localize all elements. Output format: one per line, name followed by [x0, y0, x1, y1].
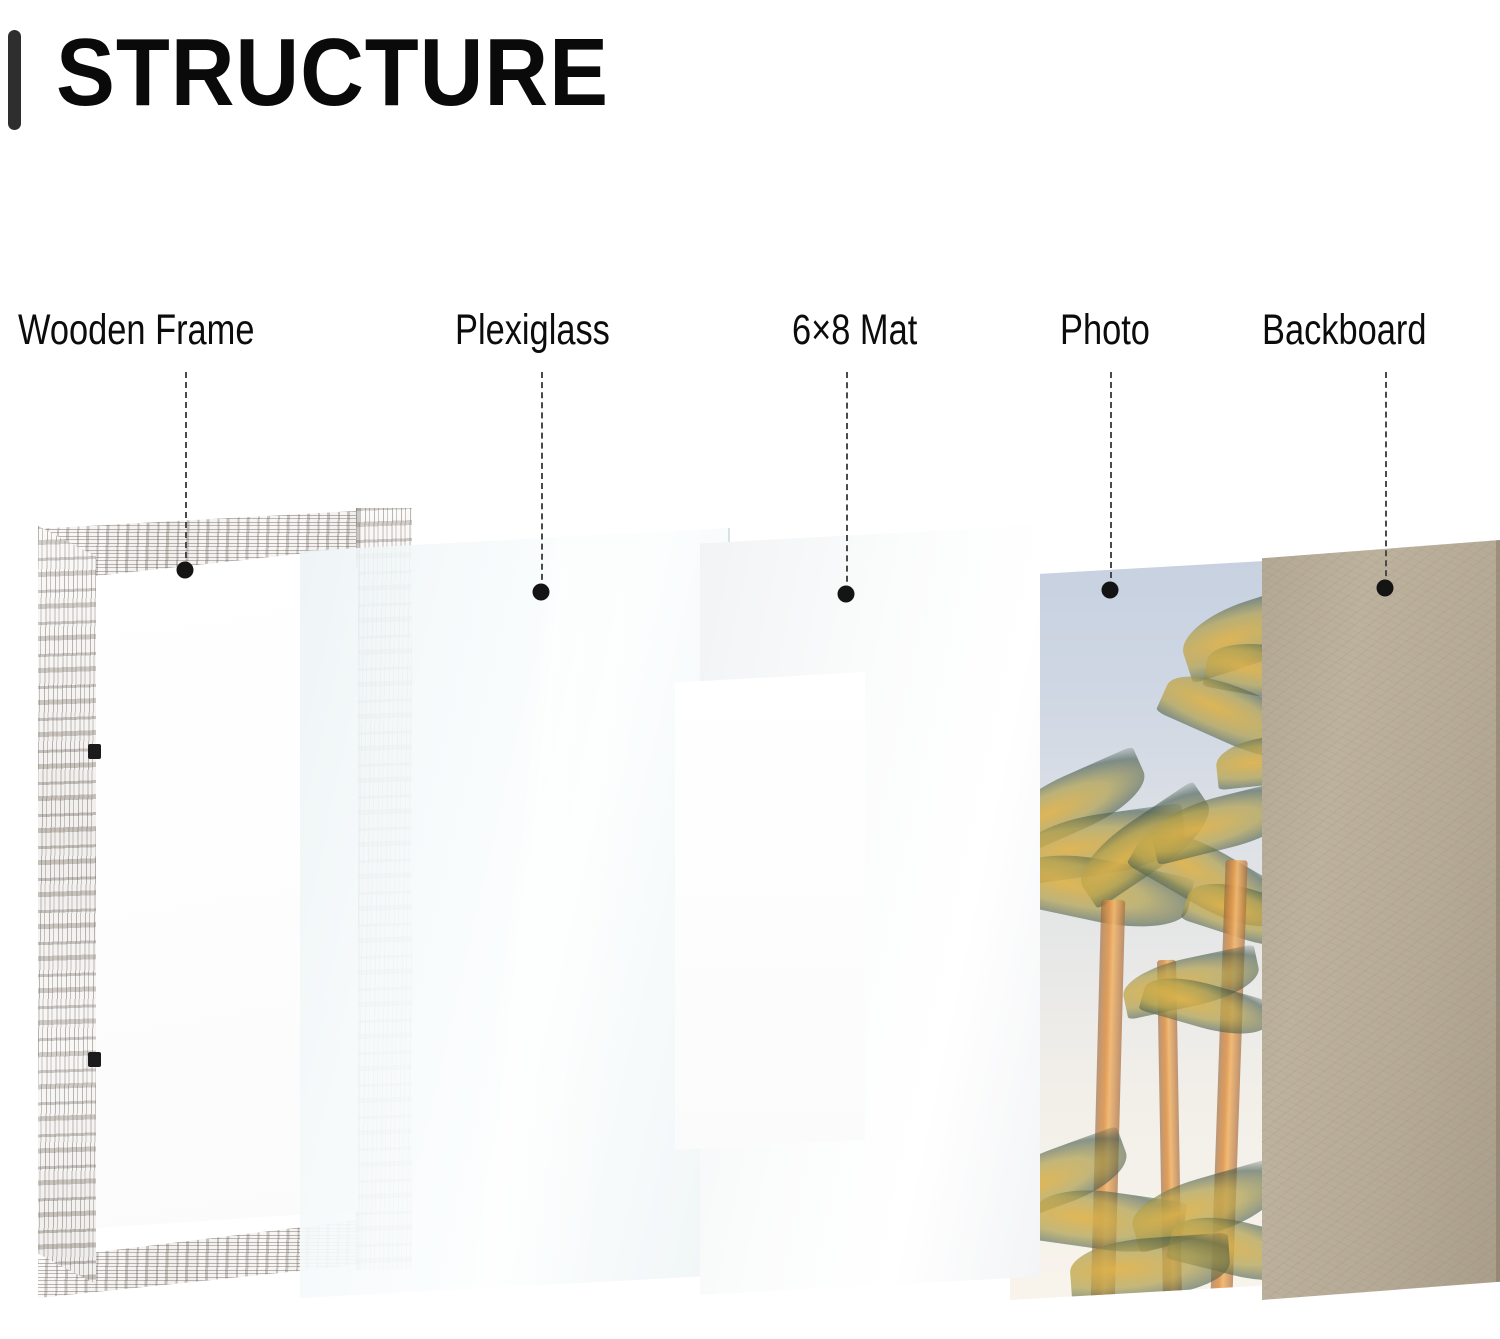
leader-dot-wooden-frame	[177, 562, 194, 579]
exploded-diagram	[0, 0, 1500, 1339]
layer-backboard	[1262, 540, 1500, 1300]
leader-line-backboard	[1385, 372, 1387, 586]
leader-line-plexiglass	[541, 372, 543, 590]
leader-line-wooden-frame	[185, 372, 187, 568]
frame-clip-icon	[88, 744, 101, 759]
leader-dot-mat	[838, 586, 855, 603]
layer-photo	[1010, 560, 1282, 1300]
leader-dot-backboard	[1377, 580, 1394, 597]
leader-line-photo	[1110, 372, 1112, 588]
plexiglass-sheen	[300, 528, 730, 1298]
leader-dot-photo	[1102, 582, 1119, 599]
mat-window-cutout	[675, 672, 865, 1150]
leader-line-mat	[846, 372, 848, 592]
leader-dot-plexiglass	[533, 584, 550, 601]
frame-clip-icon	[88, 1052, 101, 1067]
